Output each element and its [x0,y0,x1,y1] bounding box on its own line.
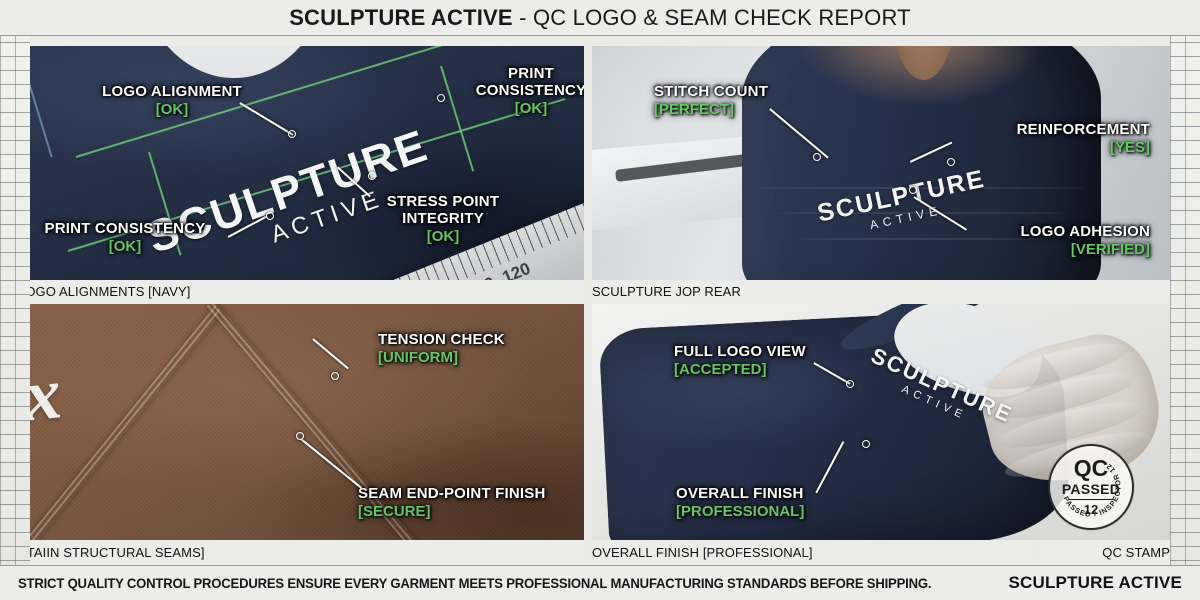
annotation-tension-check: TENSION CHECK [UNIFORM] [378,332,584,367]
report-footer: STRICT QUALITY CONTROL PROCEDURES ENSURE… [0,565,1200,600]
dot-print-consistency-bottom [266,212,274,220]
qc-report-page: SCULPTURE ACTIVE - QC LOGO & SEAM CHECK … [0,0,1200,600]
annotation-logo-adhesion: LOGO ADHESION [VERIFIED] [918,224,1150,259]
annotation-full-logo-view: FULL LOGO VIEW [ACCEPTED] [674,344,874,379]
annotation-reinforcement: REINFORCEMENT [YES] [928,122,1150,157]
skin-back-shape [893,46,954,80]
annotation-stress-point-integrity: STRESS POINT INTEGRITY [OK] [348,194,538,245]
caption-logo-alignments: LOGO ALIGNMENTS [NAVY] [18,282,584,301]
footer-disclaimer: STRICT QUALITY CONTROL PROCEDURES ENSURE… [18,576,931,591]
page-title: SCULPTURE ACTIVE - QC LOGO & SEAM CHECK … [289,5,911,31]
panel-structural-seams[interactable]: x TENSION CHECK [UNIFORM] SEAM END-POINT… [18,304,584,540]
header-separator: - [513,5,533,30]
annotation-overall-finish: OVERALL FINISH [PROFESSIONAL] [676,486,896,521]
annotation-print-consistency-bottom: PRINT CONSISTENCY [OK] [30,221,220,256]
qc-stamp-title: QC [1074,457,1109,480]
annotation-stitch-count: STITCH COUNT [PERFECT] [654,84,834,119]
fabric-logo-watermark: x [21,364,64,427]
dot-full-logo-view [846,380,854,388]
header-subtitle: QC LOGO & SEAM CHECK REPORT [533,5,911,30]
footer-brand: SCULPTURE ACTIVE [1008,573,1182,593]
dot-tension-check [331,372,339,380]
caption-structural-seams: STAIIN STRUCTURAL SEAMS] [18,543,584,562]
caption-qc-stamp: QC STAMP [1040,543,1170,562]
right-grid-margin [1170,0,1200,600]
dot-seam-end-point-finish [296,432,304,440]
caption-overall-finish: OVERALL FINISH [PROFESSIONAL] [592,543,1032,562]
dot-reinforcement [947,158,955,166]
dot-print-consistency-top [437,94,445,102]
annotation-logo-alignment: LOGO ALIGNMENT [OK] [72,84,272,119]
dot-stress-point-integrity [368,172,376,180]
qc-stamp-divider [1069,499,1113,501]
annotation-print-consistency-top: PRINT CONSISTENCY [OK] [466,66,584,117]
dot-logo-adhesion [909,186,917,194]
panel-logo-alignments[interactable]: SCULPTURE ACTIVE 70 80 90 100 110 120 LO… [18,46,584,280]
caption-sculpture-top-rear: SCULPTURE JOP REAR [592,282,1170,301]
dot-logo-alignment [288,130,296,138]
qc-stamp-number: 12 [1084,502,1098,517]
annotation-seam-end-point-finish: SEAM END-POINT FINISH [SECURE] [358,486,584,521]
panel-overall-finish[interactable]: SCULPTURE ACTIVE FULL LOGO VIEW [ACCEPTE… [592,304,1170,540]
dot-stitch-count [813,153,821,161]
header-brand: SCULPTURE ACTIVE [289,5,513,30]
panel-sculpture-top-rear[interactable]: SCULPTURE ACTIVE STITCH COUNT [PERFECT] … [592,46,1170,280]
report-header: SCULPTURE ACTIVE - QC LOGO & SEAM CHECK … [0,0,1200,36]
qc-passed-stamp: PASSED / INSPECTOR 12 QC PASSED 12 [1048,444,1134,530]
dot-overall-finish [862,440,870,448]
qc-stamp-status: PASSED [1062,481,1120,497]
